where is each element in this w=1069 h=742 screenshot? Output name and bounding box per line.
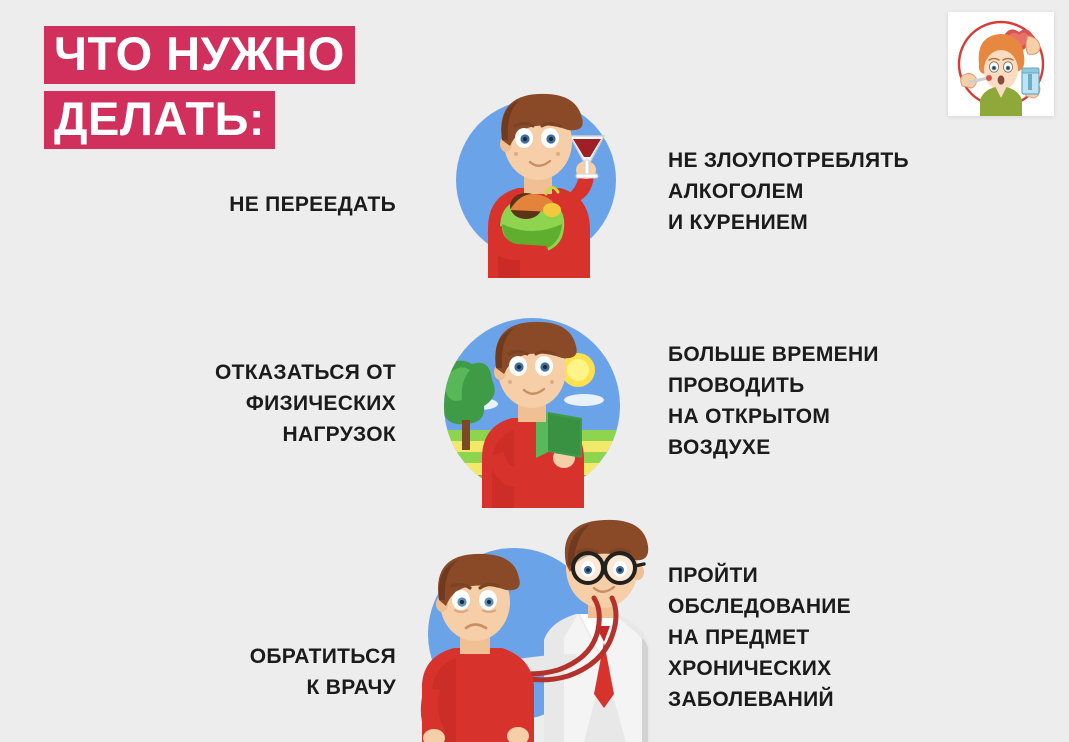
tip-label-left-2: ОТКАЗАТЬСЯ ОТ ФИЗИЧЕСКИХ НАГРУЗОК — [80, 357, 396, 450]
title-line-1: ЧТО НУЖНО — [44, 26, 355, 84]
infographic-poster: ЧТО НУЖНО ДЕЛАТЬ: НЕ ПЕРЕЕДАТЬ ОТКАЗАТЬС… — [0, 0, 1069, 742]
tip-label-right-2: БОЛЬШЕ ВРЕМЕНИ ПРОВОДИТЬ НА ОТКРЫТОМ ВОЗ… — [668, 339, 1048, 463]
page-title: ЧТО НУЖНО ДЕЛАТЬ: — [44, 26, 464, 156]
title-line-2: ДЕЛАТЬ: — [44, 91, 275, 149]
tip-label-right-1: НЕ ЗЛОУПОТРЕБЛЯТЬ АЛКОГОЛЕМ И КУРЕНИЕМ — [668, 145, 1048, 238]
tip-label-left-3: ОБРАТИТЬСЯ К ВРАЧУ — [80, 641, 396, 703]
illustration-man-reading-outdoors — [436, 308, 632, 508]
tip-label-left-1: НЕ ПЕРЕЕДАТЬ — [80, 189, 396, 220]
illustration-man-with-food-and-wine-glass — [440, 78, 636, 278]
health-woman-emblem-logo — [948, 12, 1054, 116]
tip-label-right-3: ПРОЙТИ ОБСЛЕДОВАНИЕ НА ПРЕДМЕТ ХРОНИЧЕСК… — [668, 560, 1048, 715]
illustration-doctor-examining-patient — [398, 518, 670, 742]
